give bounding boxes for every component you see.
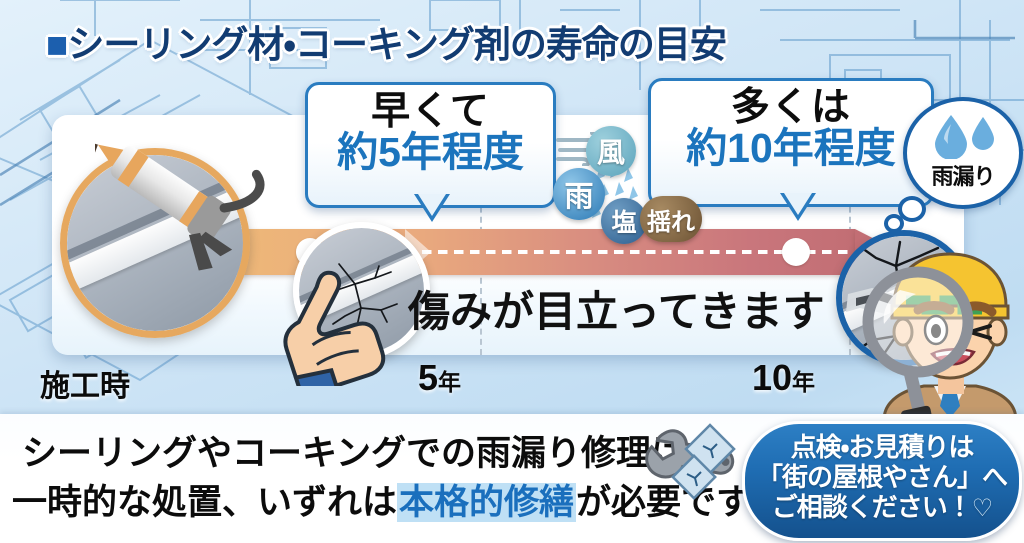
callout-most: 多くは 約10年程度 (648, 78, 934, 207)
caulking-gun-icon (95, 120, 265, 280)
callout-most-line2: 約10年程度 (651, 128, 931, 170)
thought-bubble-rain-leak: 雨漏り (903, 97, 1023, 209)
banner-line-2-pre: 一時的な処置、いずれは (12, 483, 397, 522)
factor-chip-shake: 揺れ (640, 196, 702, 242)
page-title: ■シーリング材・コーキング剤の寿命の目安 (46, 14, 726, 68)
wrench-icon (645, 422, 737, 500)
callout-early-tail (414, 194, 450, 222)
thought-bubble-dot-small (884, 214, 904, 233)
factor-chip-rain: 雨 (553, 168, 605, 220)
pointing-hand-icon (278, 268, 386, 386)
title-text: シーリング材・コーキング剤の寿命の目安 (67, 24, 725, 65)
axis-5-value: 5 (418, 357, 438, 398)
cta-line-3-text: ご相談ください！ (772, 492, 972, 522)
callout-early-line1: 早くて (308, 92, 553, 132)
banner-line-1: シーリングやコーキングでの雨漏り修理は (22, 425, 686, 476)
title-bullet-icon: ■ (46, 24, 67, 65)
axis-label-10-year: 10年 (752, 357, 815, 399)
heart-icon: ♡ (972, 495, 993, 522)
axis-label-install: 施工時 (40, 361, 130, 405)
axis-label-5-year: 5年 (418, 357, 461, 399)
damage-caption: 傷みが目立ってきます (408, 278, 825, 339)
cta-line-1: 点検・お見積りは (745, 424, 1019, 462)
axis-5-unit: 年 (438, 369, 461, 395)
callout-most-line1: 多くは (651, 88, 931, 128)
thought-bubble-label: 雨漏り (907, 159, 1019, 191)
factor-chip-wind: 風 (586, 126, 636, 176)
magnifying-glass-icon (858, 260, 994, 440)
callout-most-tail (780, 193, 816, 221)
callout-early: 早くて 約5年程度 (305, 82, 556, 208)
axis-10-unit: 年 (792, 369, 815, 395)
timeline-node-10-year (782, 238, 810, 266)
banner-line-2-highlight: 本格的修繕 (397, 483, 576, 522)
water-drop-icon (929, 113, 999, 159)
infographic-canvas: ■シーリング材・コーキング剤の寿命の目安 (0, 0, 1024, 543)
cta-line-3: ご相談ください！♡ (745, 492, 1019, 523)
banner-line-2: 一時的な処置、いずれは本格的修繕が必要です (12, 474, 751, 525)
cta-contact-button[interactable]: 点検・お見積りは 「街の屋根やさん」へ ご相談ください！♡ (742, 421, 1022, 541)
cta-line-2: 「街の屋根やさん」へ (745, 462, 1019, 492)
axis-10-value: 10 (752, 357, 792, 398)
callout-early-line2: 約5年程度 (308, 132, 553, 174)
